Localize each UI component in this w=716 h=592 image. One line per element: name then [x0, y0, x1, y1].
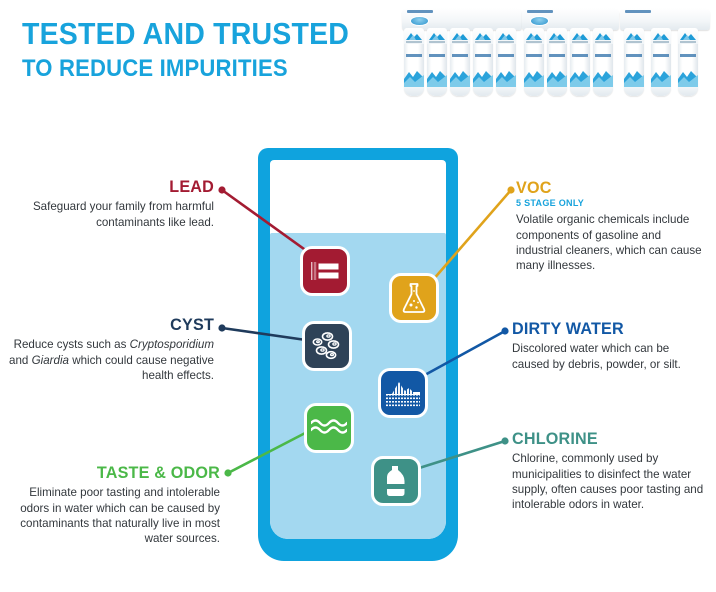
callout-body: Reduce cysts such as Cryptosporidium and… — [8, 337, 214, 383]
filter-cartridge — [547, 28, 567, 96]
callout-lead: LEAD Safeguard your family from harmful … — [14, 178, 214, 230]
product-images — [398, 6, 710, 98]
filter-cartridge — [524, 28, 544, 96]
callout-body: Discolored water which can be caused by … — [512, 341, 704, 372]
filter-cartridge — [404, 28, 424, 96]
callout-taste-odor: TASTE & ODOR Eliminate poor tasting and … — [14, 464, 220, 547]
page-title: TESTED AND TRUSTED TO REDUCE IMPURITIES — [22, 18, 382, 81]
callout-chlorine: CHLORINE Chlorine, commonly used by muni… — [512, 430, 704, 513]
filter-cartridge — [624, 28, 644, 96]
battery-icon — [303, 249, 347, 293]
callout-heading: DIRTY WATER — [512, 320, 694, 338]
filter-cartridge — [427, 28, 447, 96]
title-line-1: TESTED AND TRUSTED — [22, 18, 353, 50]
callout-cyst: CYST Reduce cysts such as Cryptosporidiu… — [8, 316, 214, 383]
filter-cartridge — [678, 28, 698, 96]
filter-cartridge — [450, 28, 470, 96]
callout-heading: CYST — [18, 316, 214, 334]
callout-subheading: 5 STAGE ONLY — [516, 198, 697, 209]
callout-body: Volatile organic chemicals include compo… — [516, 212, 706, 273]
microbe-cells-icon — [305, 324, 349, 368]
callout-heading: TASTE & ODOR — [24, 464, 220, 482]
brand-logo — [407, 10, 433, 13]
filter-cartridge — [570, 28, 590, 96]
callout-heading: VOC — [516, 179, 697, 197]
water-glass — [258, 148, 458, 561]
title-line-2: TO REDUCE IMPURITIES — [22, 56, 353, 81]
filter-cartridge — [496, 28, 516, 96]
callout-body: Safeguard your family from harmful conta… — [14, 199, 214, 230]
callout-heading: CHLORINE — [512, 430, 694, 448]
infographic-canvas: TESTED AND TRUSTED TO REDUCE IMPURITIES — [0, 0, 716, 592]
filter-cartridge — [651, 28, 671, 96]
brand-logo — [625, 10, 651, 13]
sediment-particles-icon — [381, 371, 425, 415]
brand-logo — [527, 10, 553, 13]
manifold-cap-icon — [411, 17, 428, 25]
callout-body: Chlorine, commonly used by municipalitie… — [512, 451, 704, 512]
callout-heading: LEAD — [24, 178, 214, 196]
filter-cartridge — [473, 28, 493, 96]
water-waves-icon — [307, 406, 351, 450]
flask-icon — [392, 276, 436, 320]
callout-body: Eliminate poor tasting and intolerable o… — [14, 485, 220, 546]
manifold-cap-icon — [531, 17, 548, 25]
filter-cartridge — [593, 28, 613, 96]
callout-dirty-water: DIRTY WATER Discolored water which can b… — [512, 320, 704, 372]
bleach-bottle-icon — [374, 459, 418, 503]
callout-voc: VOC 5 STAGE ONLY Volatile organic chemic… — [516, 179, 706, 274]
